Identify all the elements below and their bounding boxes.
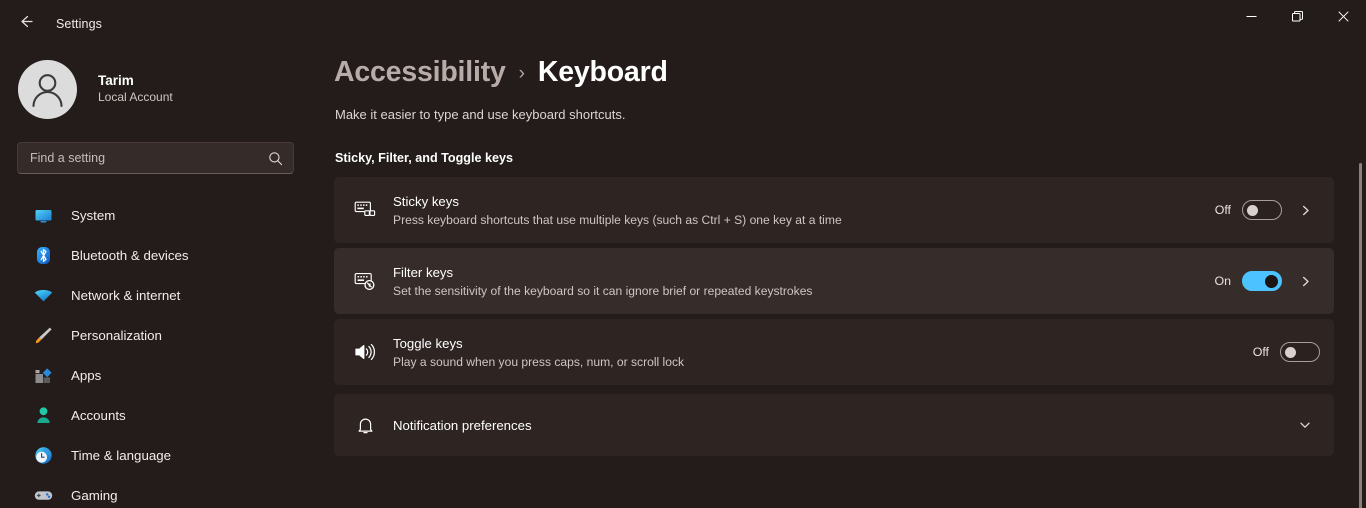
close-icon xyxy=(1338,11,1349,22)
toggle-state-label: Off xyxy=(1215,203,1231,217)
restore-button[interactable] xyxy=(1274,0,1320,32)
chevron-right-icon[interactable] xyxy=(1290,204,1320,217)
main-content: Accessibility › Keyboard Make it easier … xyxy=(320,48,1366,508)
sidebar-item-bluetooth-devices[interactable]: Bluetooth & devices xyxy=(8,235,312,275)
wifi-icon xyxy=(32,284,54,306)
setting-card-toggle-keys[interactable]: Toggle keys Play a sound when you press … xyxy=(334,319,1334,385)
minimize-icon xyxy=(1246,11,1257,22)
setting-controls: Off xyxy=(1253,342,1320,362)
title-bar: Settings xyxy=(0,0,1366,48)
filter-keys-icon xyxy=(350,270,380,292)
sidebar-item-label: Network & internet xyxy=(71,288,180,303)
setting-controls: On xyxy=(1214,271,1320,291)
search-input[interactable] xyxy=(30,151,268,165)
bell-icon xyxy=(350,415,380,436)
sidebar-nav: System Bluetooth & devices xyxy=(0,195,320,508)
toggle-keys-toggle[interactable] xyxy=(1280,342,1320,362)
sticky-keys-toggle[interactable] xyxy=(1242,200,1282,220)
search-box[interactable] xyxy=(17,142,294,174)
toggle-thumb xyxy=(1247,205,1258,216)
breadcrumb: Accessibility › Keyboard xyxy=(334,56,1366,89)
toggle-state-label: Off xyxy=(1253,345,1269,359)
toggle-thumb xyxy=(1285,347,1296,358)
sidebar-item-apps[interactable]: Apps xyxy=(8,355,312,395)
setting-card-sticky-keys[interactable]: Sticky keys Press keyboard shortcuts tha… xyxy=(334,177,1334,243)
sidebar-item-label: Personalization xyxy=(71,328,162,343)
sidebar-item-network-internet[interactable]: Network & internet xyxy=(8,275,312,315)
person-icon xyxy=(32,404,54,426)
setting-title: Toggle keys xyxy=(393,334,1253,353)
person-avatar-icon xyxy=(18,60,77,119)
sticky-keys-icon xyxy=(350,199,380,221)
sidebar-item-label: System xyxy=(71,208,115,223)
setting-title: Sticky keys xyxy=(393,192,1215,211)
sidebar-item-personalization[interactable]: Personalization xyxy=(8,315,312,355)
breadcrumb-parent[interactable]: Accessibility xyxy=(334,56,506,89)
page-subtitle: Make it easier to type and use keyboard … xyxy=(335,107,1366,122)
setting-description: Play a sound when you press caps, num, o… xyxy=(393,353,1253,371)
vertical-scrollbar[interactable] xyxy=(1359,163,1362,508)
paintbrush-icon xyxy=(32,324,54,346)
filter-keys-toggle[interactable] xyxy=(1242,271,1282,291)
back-button[interactable] xyxy=(6,8,44,40)
chevron-down-icon[interactable] xyxy=(1290,418,1320,432)
arrow-left-icon xyxy=(17,13,34,35)
sidebar-item-accounts[interactable]: Accounts xyxy=(8,395,312,435)
setting-title: Notification preferences xyxy=(393,416,1282,435)
minimize-button[interactable] xyxy=(1228,0,1274,32)
setting-controls xyxy=(1282,418,1320,432)
setting-description: Set the sensitivity of the keyboard so i… xyxy=(393,282,1214,300)
monitor-icon xyxy=(32,204,54,226)
settings-cards: Sticky keys Press keyboard shortcuts tha… xyxy=(334,177,1334,456)
chevron-right-icon[interactable] xyxy=(1290,275,1320,288)
clock-globe-icon xyxy=(32,444,54,466)
sidebar-item-label: Apps xyxy=(71,368,101,383)
sidebar-item-label: Time & language xyxy=(71,448,171,463)
window-title: Settings xyxy=(56,17,102,31)
speaker-icon xyxy=(350,341,380,363)
bluetooth-icon xyxy=(32,244,54,266)
setting-controls: Off xyxy=(1215,200,1320,220)
sidebar: Tarim Local Account System xyxy=(0,48,320,508)
sidebar-item-system[interactable]: System xyxy=(8,195,312,235)
sidebar-item-gaming[interactable]: Gaming xyxy=(8,475,312,508)
setting-card-notification-preferences[interactable]: Notification preferences xyxy=(334,394,1334,456)
sidebar-item-label: Gaming xyxy=(71,488,118,503)
toggle-thumb xyxy=(1265,275,1278,288)
toggle-state-label: On xyxy=(1214,274,1231,288)
account-type: Local Account xyxy=(98,89,173,106)
account-summary[interactable]: Tarim Local Account xyxy=(18,57,320,121)
account-name: Tarim xyxy=(98,72,173,89)
sidebar-item-label: Bluetooth & devices xyxy=(71,248,189,263)
avatar xyxy=(18,60,77,119)
section-heading: Sticky, Filter, and Toggle keys xyxy=(335,151,1366,165)
sidebar-item-label: Accounts xyxy=(71,408,126,423)
apps-icon xyxy=(32,364,54,386)
restore-icon xyxy=(1292,11,1303,22)
page-title: Keyboard xyxy=(538,56,668,89)
setting-title: Filter keys xyxy=(393,263,1214,282)
close-button[interactable] xyxy=(1320,0,1366,32)
search-icon[interactable] xyxy=(268,151,283,166)
gamepad-icon xyxy=(32,484,54,506)
setting-card-filter-keys[interactable]: Filter keys Set the sensitivity of the k… xyxy=(334,248,1334,314)
chevron-right-icon: › xyxy=(519,63,525,85)
sidebar-item-time-language[interactable]: Time & language xyxy=(8,435,312,475)
setting-description: Press keyboard shortcuts that use multip… xyxy=(393,211,1215,229)
window-controls xyxy=(1228,0,1366,32)
